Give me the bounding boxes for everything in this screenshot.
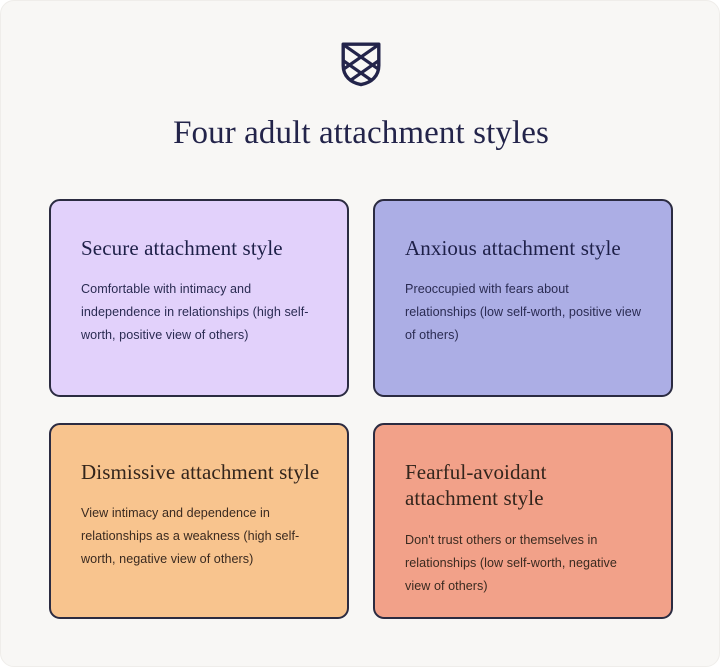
card-fearful-avoidant-attachment: Fearful-avoidant attachment style Don't … [373, 423, 673, 619]
card-title: Secure attachment style [81, 235, 321, 261]
logo [1, 41, 720, 87]
shield-crest-icon [340, 41, 382, 87]
card-title: Dismissive attachment style [81, 459, 321, 485]
card-title: Fearful-avoidant attachment style [405, 459, 645, 512]
card-secure-attachment: Secure attachment style Comfortable with… [49, 199, 349, 397]
card-dismissive-attachment: Dismissive attachment style View intimac… [49, 423, 349, 619]
card-description: Comfortable with intimacy and independen… [81, 278, 319, 347]
card-title: Anxious attachment style [405, 235, 645, 261]
card-description: Don't trust others or themselves in rela… [405, 529, 643, 598]
card-description: Preoccupied with fears about relationshi… [405, 278, 643, 347]
card-anxious-attachment: Anxious attachment style Preoccupied wit… [373, 199, 673, 397]
page-title: Four adult attachment styles [1, 113, 720, 153]
attachment-style-card-grid: Secure attachment style Comfortable with… [49, 199, 673, 619]
card-description: View intimacy and dependence in relation… [81, 502, 319, 571]
attachment-styles-infographic: Four adult attachment styles Secure atta… [0, 0, 720, 667]
